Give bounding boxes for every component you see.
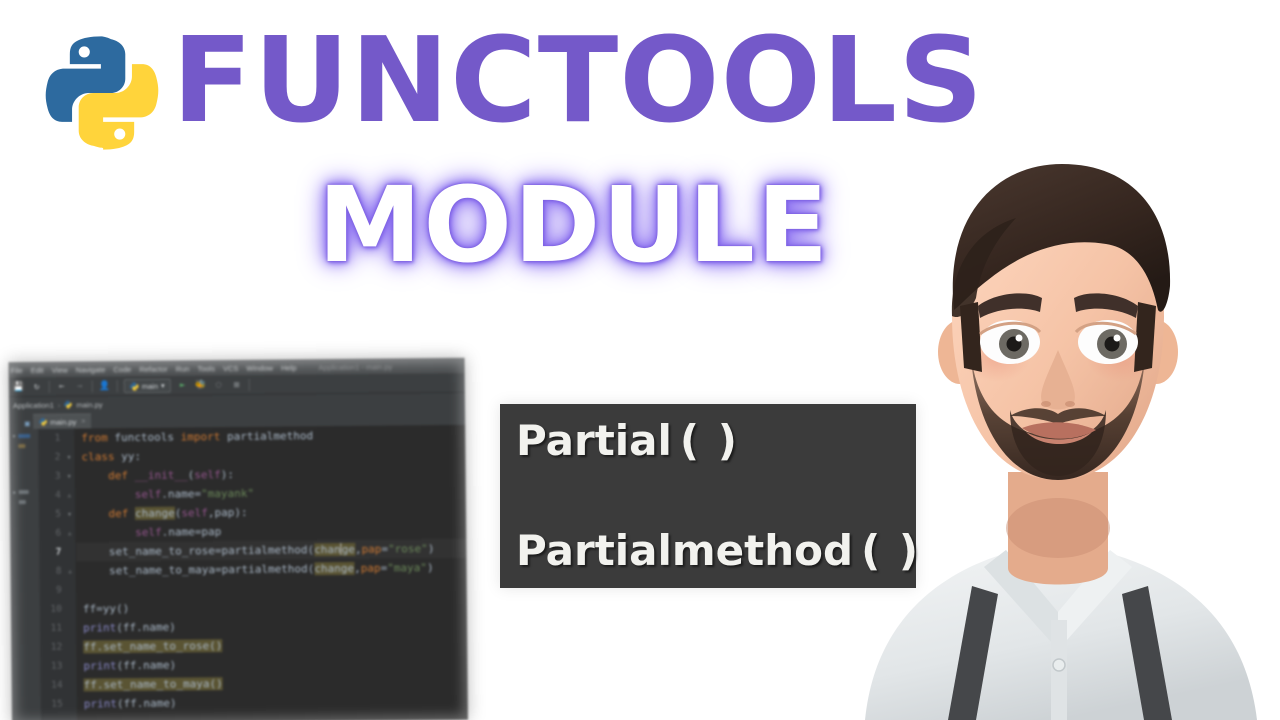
menu-item-help[interactable]: Help <box>281 363 297 372</box>
user-icon[interactable]: 👤 <box>99 380 111 392</box>
code-editor[interactable]: from functools import partialmethod clas… <box>75 425 468 720</box>
line-number: 14 <box>51 676 63 695</box>
python-file-icon <box>64 401 72 409</box>
concept-item-partial-label: Partial <box>516 416 672 465</box>
concept-item-partial: Partial( ) <box>516 416 739 465</box>
line-number: 13 <box>51 657 63 676</box>
menu-item-vcs[interactable]: VCS <box>223 363 239 372</box>
line-number: 4 <box>55 486 61 505</box>
project-tree-item[interactable] <box>19 500 26 504</box>
menu-item-navigate[interactable]: Navigate <box>76 365 106 374</box>
close-icon[interactable]: × <box>81 418 85 425</box>
run-configuration-label: main <box>142 381 158 390</box>
run-play-icon[interactable]: ► <box>177 379 189 391</box>
ide-screenshot: File Edit View Navigate Code Refactor Ru… <box>9 358 468 720</box>
project-tree-item[interactable] <box>18 490 28 494</box>
code-fold-end-icon[interactable]: ▵ <box>65 486 74 505</box>
line-number: 9 <box>56 581 62 600</box>
line-number: 10 <box>50 600 62 619</box>
project-tree-panel[interactable]: ▾ ▸ <box>9 429 42 720</box>
line-number-current: 7 <box>56 543 62 562</box>
code-fold-toggle-icon[interactable]: ▾ <box>64 448 73 467</box>
line-number: 12 <box>51 638 63 657</box>
sync-icon[interactable]: ↻ <box>31 381 43 393</box>
toolbar-divider-4 <box>249 379 250 391</box>
pycharm-window: File Edit View Navigate Code Refactor Ru… <box>9 358 468 720</box>
menu-item-tools[interactable]: Tools <box>197 364 215 373</box>
project-tree-item[interactable] <box>18 444 25 448</box>
code-fold-toggle-icon[interactable]: ▾ <box>65 467 74 486</box>
menu-item-view[interactable]: View <box>52 365 68 374</box>
project-tree-row[interactable]: ▾ <box>9 431 38 441</box>
debug-bug-icon[interactable]: 🐝 <box>195 379 207 391</box>
line-number: 11 <box>51 619 63 638</box>
youtube-thumbnail-slide: FUNCTOOLS MODULE Partial( ) Partialmetho… <box>0 0 1280 720</box>
code-line-15[interactable]: print(ff.name) <box>78 691 468 714</box>
breadcrumb-file[interactable]: main.py <box>76 400 102 409</box>
toolbar-divider-2 <box>92 380 93 392</box>
toolbar-divider-1 <box>49 381 50 393</box>
editor-tab-main-py[interactable]: main.py × <box>33 413 92 429</box>
avatar-neck-shadow <box>1006 498 1110 558</box>
line-number: 15 <box>51 695 63 714</box>
project-tree-item[interactable] <box>18 434 30 438</box>
editor-gutter[interactable]: 1 2 3 4 5 6 7 8 9 10 11 12 13 14 15 ▾ ▾ … <box>39 429 78 720</box>
stop-icon[interactable]: ■ <box>231 379 243 391</box>
line-number: 1 <box>54 429 60 448</box>
avatar-nostril-left <box>1041 401 1051 407</box>
menu-item-refactor[interactable]: Refactor <box>139 364 167 373</box>
concept-item-partialmethod-label: Partialmethod <box>516 526 853 575</box>
coverage-icon[interactable]: ◯ <box>213 379 225 391</box>
python-logo-icon <box>40 32 164 154</box>
breadcrumb-project[interactable]: Application1 <box>13 400 54 409</box>
avatar-eye-glint-left <box>1016 335 1023 342</box>
menu-item-file[interactable]: File <box>11 366 23 375</box>
page-subtitle-module: MODULE <box>264 166 884 284</box>
line-number: 8 <box>56 562 62 581</box>
python-file-icon <box>39 418 47 426</box>
ide-window-title: Application1 - main.py <box>318 362 392 372</box>
line-number: 5 <box>55 505 61 524</box>
avatar-eye-glint-right <box>1114 335 1121 342</box>
editor-tab-label: main.py <box>50 417 76 426</box>
toolbar-divider-3 <box>117 380 118 392</box>
project-tree-row[interactable] <box>10 497 39 507</box>
menu-item-window[interactable]: Window <box>246 363 273 372</box>
project-panel-toggle-icon[interactable]: ▣ <box>21 417 33 429</box>
save-icon[interactable]: 💾 <box>13 381 25 393</box>
breadcrumb-separator: › <box>58 400 61 409</box>
line-number: 3 <box>55 467 61 486</box>
line-number: 2 <box>55 448 61 467</box>
forward-arrow-icon[interactable]: → <box>74 380 86 392</box>
python-file-icon <box>130 381 139 390</box>
project-tree-row[interactable] <box>9 441 38 451</box>
code-fold-toggle-icon[interactable]: ▾ <box>65 505 74 524</box>
line-number: 6 <box>55 524 61 543</box>
code-fold-end-icon[interactable]: ▵ <box>65 562 74 581</box>
concept-item-partial-parens: ( ) <box>680 416 739 465</box>
menu-item-edit[interactable]: Edit <box>31 365 44 374</box>
code-fold-end-icon[interactable]: ▵ <box>65 524 74 543</box>
run-configuration-selector[interactable]: main ▼ <box>124 379 171 393</box>
chevron-right-icon[interactable]: ▸ <box>13 489 17 496</box>
chevron-down-icon[interactable]: ▼ <box>161 382 165 389</box>
menu-item-run[interactable]: Run <box>176 364 190 373</box>
avatar-nostril-right <box>1065 401 1075 407</box>
project-tree-row[interactable]: ▸ <box>10 487 39 497</box>
back-arrow-icon[interactable]: ← <box>56 381 68 393</box>
avatar-shirt-button <box>1053 659 1065 671</box>
chevron-down-icon[interactable]: ▾ <box>12 433 16 440</box>
menu-item-code[interactable]: Code <box>113 365 131 374</box>
avatar <box>820 120 1280 720</box>
